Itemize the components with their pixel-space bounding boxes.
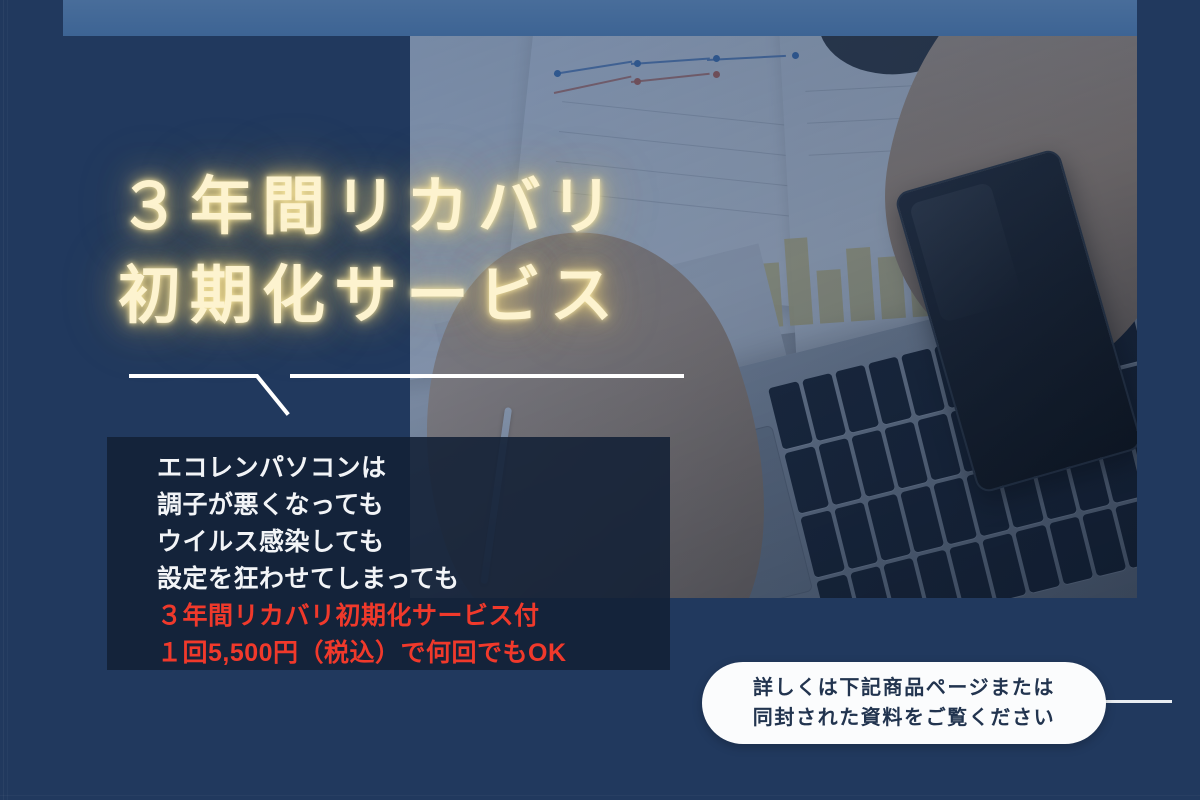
- callout-pill[interactable]: 詳しくは下記商品ページまたは 同封された資料をご覧ください: [702, 662, 1106, 744]
- feature-text-lines: エコレンパソコンは 調子が悪くなっても ウイルス感染しても 設定を狂わせてしまっ…: [157, 450, 662, 672]
- callout-line-2: 同封された資料をご覧ください: [753, 707, 1055, 729]
- feature-line-6-highlight: １回5,500円（税込）で何回でもOK: [157, 635, 662, 672]
- feature-line-3: ウイルス感染しても: [157, 524, 662, 561]
- page-title: ３年間リカバリ 初期化サービス: [118, 163, 878, 341]
- divider-polyline: [120, 355, 700, 425]
- frame-edge-left-inner: [7, 0, 8, 800]
- feature-text-box: エコレンパソコンは 調子が悪くなっても ウイルス感染しても 設定を狂わせてしまっ…: [107, 437, 670, 670]
- callout-line-1: 詳しくは下記商品ページまたは: [753, 677, 1055, 699]
- feature-line-5-highlight: ３年間リカバリ初期化サービス付: [157, 598, 662, 635]
- headline-line-2: 初期化サービス: [118, 252, 878, 341]
- feature-line-2: 調子が悪くなっても: [157, 487, 662, 524]
- frame-edge-bottom: [0, 795, 1200, 796]
- right-navy-strip: [1137, 0, 1200, 800]
- promo-banner: ３年間リカバリ 初期化サービス エコレンパソコンは 調子が悪くなっても ウイルス…: [0, 0, 1200, 800]
- headline-line-1: ３年間リカバリ: [118, 172, 622, 242]
- feature-line-4: 設定を狂わせてしまっても: [157, 561, 662, 598]
- frame-edge-left: [3, 0, 4, 800]
- callout-pill-text: 詳しくは下記商品ページまたは 同封された資料をご覧ください: [753, 673, 1055, 733]
- feature-line-1: エコレンパソコンは: [157, 450, 662, 487]
- top-accent-band: [63, 0, 1137, 36]
